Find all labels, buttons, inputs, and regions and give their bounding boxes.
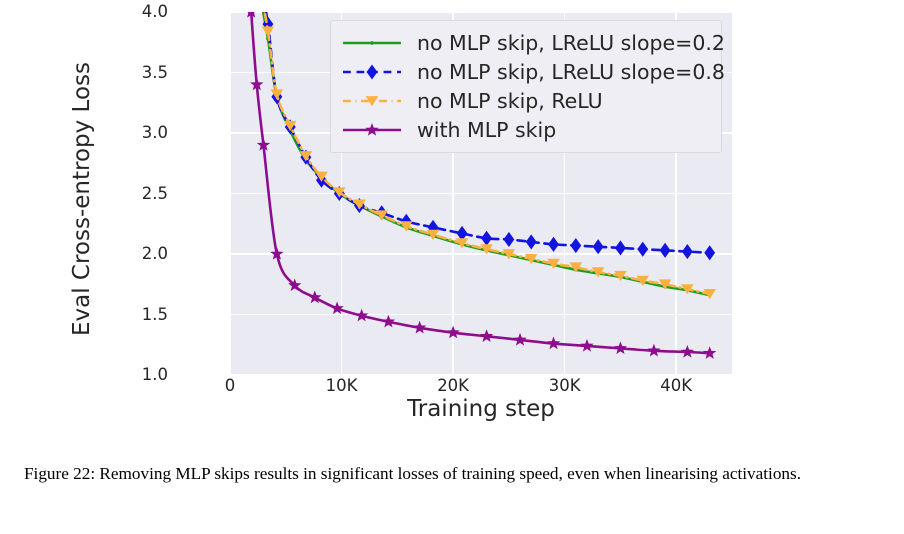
data-point bbox=[262, 26, 275, 36]
data-point bbox=[647, 344, 660, 357]
legend-item-2: no MLP skip, ReLU bbox=[341, 86, 711, 115]
data-point bbox=[580, 339, 593, 352]
data-point bbox=[481, 231, 492, 246]
legend-swatch-icon bbox=[341, 61, 403, 83]
legend-label: no MLP skip, LReLU slope=0.8 bbox=[417, 60, 725, 84]
data-point bbox=[382, 315, 395, 328]
legend-swatch-icon bbox=[341, 90, 403, 112]
legend-swatch bbox=[341, 119, 403, 141]
data-point bbox=[526, 234, 537, 249]
data-point bbox=[503, 232, 514, 247]
x-tick-label: 20K bbox=[423, 378, 483, 395]
data-point bbox=[480, 329, 493, 342]
x-tick-label: 40K bbox=[646, 378, 706, 395]
y-tick-label: 4.0 bbox=[122, 4, 168, 21]
y-tick-label: 1.0 bbox=[122, 367, 168, 384]
data-point bbox=[513, 333, 526, 346]
x-tick-label: 0 bbox=[200, 378, 260, 395]
y-axis-label: Eval Cross-entropy Loss bbox=[69, 0, 95, 399]
data-point bbox=[703, 346, 716, 359]
data-point bbox=[681, 345, 694, 358]
x-axis-label: Training step bbox=[230, 396, 732, 422]
data-point bbox=[570, 238, 581, 253]
data-point bbox=[615, 240, 626, 255]
legend-swatch-icon bbox=[341, 119, 403, 141]
data-point bbox=[682, 244, 693, 259]
figure-page: Eval Cross-entropy Loss Training step 1.… bbox=[0, 0, 904, 534]
legend-item-3: with MLP skip bbox=[341, 115, 711, 144]
data-point bbox=[413, 321, 426, 334]
legend-swatch-icon bbox=[341, 32, 403, 54]
x-tick-label: 30K bbox=[535, 378, 595, 395]
legend-label: no MLP skip, LReLU slope=0.2 bbox=[417, 31, 725, 55]
chart-legend: no MLP skip, LReLU slope=0.2no MLP skip,… bbox=[330, 20, 722, 153]
y-tick-label: 2.5 bbox=[122, 186, 168, 203]
y-tick-label: 3.5 bbox=[122, 65, 168, 82]
data-point bbox=[446, 326, 459, 339]
legend-label: with MLP skip bbox=[417, 118, 556, 142]
legend-item-0: no MLP skip, LReLU slope=0.2 bbox=[341, 28, 711, 57]
data-point bbox=[593, 239, 604, 254]
legend-swatch bbox=[341, 32, 403, 54]
legend-swatch bbox=[341, 61, 403, 83]
data-point bbox=[660, 243, 671, 258]
data-point bbox=[704, 245, 715, 260]
data-point bbox=[548, 237, 559, 252]
y-tick-label: 2.0 bbox=[122, 246, 168, 263]
chart-figure: Eval Cross-entropy Loss Training step 1.… bbox=[0, 0, 904, 450]
data-point bbox=[355, 309, 368, 322]
figure-caption: Figure 22: Removing MLP skips results in… bbox=[24, 462, 882, 486]
y-tick-label: 3.0 bbox=[122, 125, 168, 142]
data-point bbox=[637, 242, 648, 257]
legend-item-1: no MLP skip, LReLU slope=0.8 bbox=[341, 57, 711, 86]
data-point bbox=[614, 341, 627, 354]
y-tick-label: 1.5 bbox=[122, 307, 168, 324]
legend-swatch bbox=[341, 90, 403, 112]
x-tick-label: 10K bbox=[312, 378, 372, 395]
data-point bbox=[547, 337, 560, 350]
data-point bbox=[330, 301, 343, 314]
legend-label: no MLP skip, ReLU bbox=[417, 89, 603, 113]
